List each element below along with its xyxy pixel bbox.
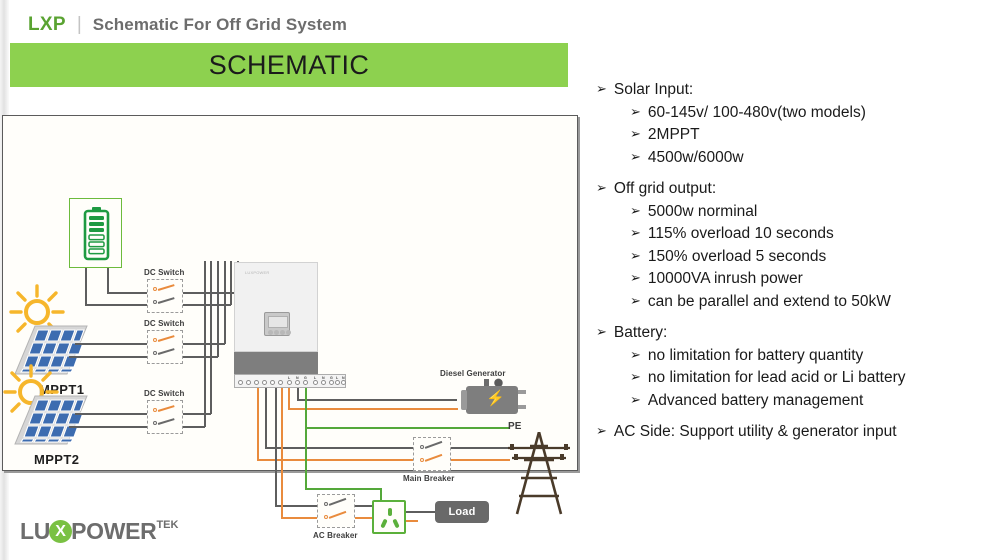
- dc-switch-3-box[interactable]: [147, 400, 183, 434]
- wire-acload-n: [275, 388, 277, 506]
- main-breaker-label: Main Breaker: [403, 474, 454, 483]
- wire-grid-n: [265, 388, 267, 448]
- spec-heading: ➢ AC Side: Support utility & generator i…: [596, 424, 994, 440]
- bullet-arrow-icon: ➢: [630, 393, 641, 408]
- spec-item-label: 150% overload 5 seconds: [648, 249, 826, 265]
- wire-grid-l: [257, 388, 259, 460]
- diesel-generator-label: Diesel Generator: [440, 369, 506, 378]
- wire-acload-l-h: [281, 517, 317, 519]
- spec-item-label: Advanced battery management: [648, 393, 863, 409]
- wire-battery-neg-h: [85, 304, 147, 306]
- wire-dcsw2-out-neg: [183, 356, 218, 358]
- dc-switch-2-box[interactable]: [147, 330, 183, 364]
- spec-item-label: 60-145v/ 100-480v(two models): [648, 105, 866, 121]
- wire-battery-pos-h: [107, 292, 147, 294]
- brand-label: LXP: [28, 14, 66, 36]
- load-box: Load: [435, 501, 489, 523]
- logo-text-part1: LU: [20, 518, 50, 545]
- wire-battery-neg: [85, 268, 87, 305]
- load-label: Load: [448, 506, 475, 518]
- spec-item: ➢ 10000VA inrush power: [630, 271, 994, 287]
- spec-group-ac-side: ➢ AC Side: Support utility & generator i…: [596, 424, 994, 440]
- pe-label: PE: [508, 421, 522, 432]
- wire-mppt2-neg: [69, 426, 147, 428]
- socket-pin-top: [388, 508, 392, 516]
- wire-riser-2: [230, 261, 232, 305]
- spec-item: ➢ 4500w/6000w: [630, 150, 994, 166]
- generator-right-nub-1: [518, 390, 526, 394]
- inverter-brand-logo: LUXPOWER: [245, 270, 270, 275]
- bullet-arrow-icon: ➢: [630, 204, 641, 219]
- dc-switch-1-label: DC Switch: [144, 268, 184, 277]
- inverter-body: [234, 262, 318, 352]
- socket-outlet-icon: [372, 500, 406, 534]
- wire-riser-5: [210, 261, 212, 414]
- bullet-arrow-icon: ➢: [630, 348, 641, 363]
- schematic-diagram: MPPT1: [2, 115, 578, 471]
- dc-switch-3-label: DC Switch: [144, 389, 184, 398]
- wire-mppt1-pos: [75, 343, 147, 345]
- socket-pin-right: [392, 519, 399, 529]
- bullet-arrow-icon: ➢: [596, 82, 607, 97]
- logo-text-part2: POWER: [71, 518, 156, 545]
- mppt2-label: MPPT2: [34, 452, 79, 467]
- spec-item-label: 4500w/6000w: [648, 150, 744, 166]
- ac-breaker-box[interactable]: [317, 494, 355, 528]
- generator-left-flange: [461, 390, 467, 410]
- company-logo: LU X POWER TEK: [20, 518, 178, 545]
- spec-group-solar-input: ➢ Solar Input: ➢ 60-145v/ 100-480v(two m…: [596, 82, 994, 165]
- wire-gen-l-h: [288, 408, 458, 410]
- header-separator: |: [77, 14, 82, 36]
- bullet-arrow-icon: ➢: [596, 325, 607, 340]
- section-banner: SCHEMATIC: [10, 43, 568, 87]
- bullet-arrow-icon: ➢: [630, 370, 641, 385]
- power-pylon-icon: [508, 432, 570, 516]
- bullet-arrow-icon: ➢: [596, 181, 607, 196]
- wire-socket-l-in: [406, 520, 418, 522]
- spec-heading-label: AC Side: Support utility & generator inp…: [614, 424, 897, 440]
- spec-item: ➢ Advanced battery management: [630, 393, 994, 409]
- spec-item-label: can be parallel and extend to 50kW: [648, 294, 891, 310]
- terminal-block: L N G L N G L N: [234, 374, 346, 388]
- spec-item: ➢ 115% overload 10 seconds: [630, 226, 994, 242]
- slide-header: LXP | Schematic For Off Grid System: [28, 14, 347, 36]
- logo-text-tek: TEK: [156, 519, 178, 531]
- main-breaker-box[interactable]: [413, 437, 451, 471]
- bullet-arrow-icon: ➢: [630, 271, 641, 286]
- spec-item: ➢ 150% overload 5 seconds: [630, 249, 994, 265]
- spec-item: ➢ 2MPPT: [630, 127, 994, 143]
- banner-title: SCHEMATIC: [209, 50, 370, 81]
- spec-item-label: 115% overload 10 seconds: [648, 226, 834, 242]
- generator-exhaust: [484, 379, 489, 386]
- bullet-arrow-icon: ➢: [630, 294, 641, 309]
- spec-item-label: 2MPPT: [648, 127, 700, 143]
- spec-heading-label: Off grid output:: [614, 181, 716, 197]
- wire-riser-3: [224, 261, 226, 344]
- spec-item-label: no limitation for battery quantity: [648, 348, 863, 364]
- bullet-arrow-icon: ➢: [630, 249, 641, 264]
- wire-pe-bus: [305, 427, 509, 429]
- wire-socket-to-load: [406, 511, 435, 513]
- bullet-arrow-icon: ➢: [630, 226, 641, 241]
- wire-gen-n-h: [297, 399, 457, 401]
- battery-box: [69, 198, 122, 268]
- lightning-bolt-icon: ⚡: [486, 391, 505, 406]
- spec-item-label: 10000VA inrush power: [648, 271, 803, 287]
- solar-panel-mppt2: [13, 394, 89, 456]
- generator-right-nub-2: [518, 405, 526, 409]
- spec-heading-label: Solar Input:: [614, 82, 693, 98]
- spec-item-label: 5000w norminal: [648, 204, 757, 220]
- socket-pin-left: [380, 519, 387, 529]
- inverter-display[interactable]: [264, 312, 290, 336]
- bullet-arrow-icon: ➢: [630, 150, 641, 165]
- wire-mppt2-pos: [75, 413, 147, 415]
- spec-heading-label: Battery:: [614, 325, 667, 341]
- wire-grid-n-h: [265, 447, 413, 449]
- wire-mppt1-neg: [69, 356, 147, 358]
- inverter-base: [234, 352, 318, 374]
- bullet-arrow-icon: ➢: [630, 127, 641, 142]
- specs-list: ➢ Solar Input: ➢ 60-145v/ 100-480v(two m…: [596, 82, 994, 456]
- bullet-arrow-icon: ➢: [630, 105, 641, 120]
- dc-switch-1-box[interactable]: [147, 279, 183, 313]
- wire-socket-pe-v: [305, 427, 307, 489]
- spec-item: ➢ no limitation for battery quantity: [630, 348, 994, 364]
- spec-group-battery: ➢ Battery: ➢ no limitation for battery q…: [596, 325, 994, 408]
- wire-dcsw3-out-pos: [183, 413, 211, 415]
- wire-dcsw3-out-neg: [183, 426, 205, 428]
- slide-root: LXP | Schematic For Off Grid System SCHE…: [0, 0, 1000, 560]
- spec-heading: ➢ Solar Input:: [596, 82, 994, 98]
- page-title: Schematic For Off Grid System: [93, 15, 347, 35]
- logo-x-badge-icon: X: [49, 520, 72, 543]
- dc-switch-2-label: DC Switch: [144, 319, 184, 328]
- battery-icon: [82, 207, 111, 261]
- diesel-generator-body: ⚡: [466, 386, 518, 414]
- wire-mainbrk-out-l: [451, 459, 510, 461]
- spec-heading: ➢ Off grid output:: [596, 181, 994, 197]
- wire-riser-6: [204, 261, 206, 427]
- wire-pe-riser: [305, 388, 307, 428]
- spec-item: ➢ 60-145v/ 100-480v(two models): [630, 105, 994, 121]
- spec-heading: ➢ Battery:: [596, 325, 994, 341]
- ac-breaker-label: AC Breaker: [313, 531, 358, 540]
- wire-battery-pos: [107, 268, 109, 293]
- spec-item: ➢ can be parallel and extend to 50kW: [630, 294, 994, 310]
- spec-group-off-grid-output: ➢ Off grid output: ➢ 5000w norminal ➢ 11…: [596, 181, 994, 309]
- wire-socket-pe-h: [305, 488, 381, 490]
- spec-item: ➢ 5000w norminal: [630, 204, 994, 220]
- wire-riser-4: [217, 261, 219, 357]
- bullet-arrow-icon: ➢: [596, 424, 607, 439]
- wire-acload-l: [281, 388, 283, 518]
- spec-item-label: no limitation for lead acid or Li batter…: [648, 370, 906, 386]
- spec-item: ➢ no limitation for lead acid or Li batt…: [630, 370, 994, 386]
- wire-gen-l: [288, 388, 290, 410]
